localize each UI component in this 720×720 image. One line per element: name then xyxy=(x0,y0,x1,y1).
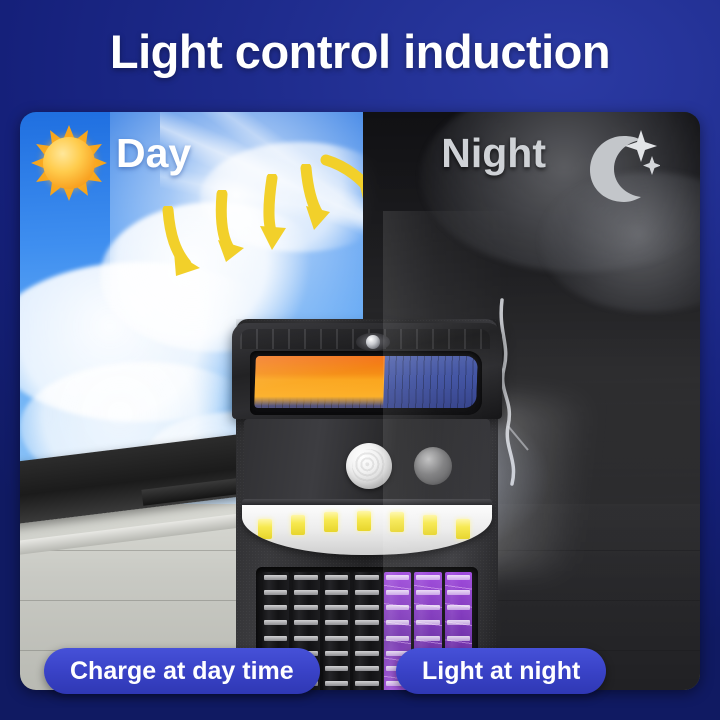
day-label: Day xyxy=(116,130,191,177)
grille-slat xyxy=(264,605,287,610)
grille-slat xyxy=(355,590,378,595)
led-chip xyxy=(423,515,437,535)
grille-slat xyxy=(294,575,317,580)
grille-slat xyxy=(355,636,378,641)
star-sparkle-icon xyxy=(643,156,660,175)
grille-slat xyxy=(355,620,378,625)
grille-slat xyxy=(325,605,348,610)
led-chip xyxy=(324,512,338,532)
solar-panel-sheen xyxy=(254,356,478,408)
grille-slat xyxy=(294,620,317,625)
grille-slat xyxy=(294,636,317,641)
grille-slat xyxy=(264,590,287,595)
page-title: Light control induction xyxy=(0,24,720,80)
grille-slat xyxy=(325,575,348,580)
grille-slat xyxy=(264,636,287,641)
charge-at-day-time-pill[interactable]: Charge at day time xyxy=(44,648,320,694)
led-chip xyxy=(258,519,272,539)
grille-slat xyxy=(355,651,378,656)
grille-slat xyxy=(294,605,317,610)
grille-slat xyxy=(325,620,348,625)
grille-column xyxy=(323,572,350,690)
grille-slat xyxy=(264,620,287,625)
led-chip xyxy=(357,511,371,531)
grille-slat xyxy=(325,651,348,656)
led-chip xyxy=(390,512,404,532)
light-at-night-pill[interactable]: Light at night xyxy=(396,648,606,694)
moon-icon xyxy=(568,126,660,204)
grille-slat xyxy=(294,590,317,595)
grille-slat xyxy=(264,575,287,580)
marketing-image: Light control induction xyxy=(0,0,720,720)
grille-slat xyxy=(325,590,348,595)
grille-slat xyxy=(325,666,348,671)
solar-motion-sensor-wall-light[interactable] xyxy=(222,211,512,690)
grille-slat xyxy=(355,605,378,610)
night-label: Night xyxy=(441,130,546,177)
ambient-light-sensor-dome xyxy=(414,447,452,485)
product-photo-panel: Day xyxy=(20,112,700,690)
led-chip xyxy=(456,519,470,539)
sun-icon xyxy=(30,124,108,202)
screw-pin-icon xyxy=(366,335,380,349)
pir-motion-sensor-dome xyxy=(346,443,392,489)
grille-column xyxy=(353,572,380,690)
grille-slat xyxy=(325,681,348,686)
grille-slat xyxy=(355,681,378,686)
grille-slat xyxy=(355,575,378,580)
led-chip xyxy=(291,515,305,535)
grille-slat xyxy=(325,636,348,641)
grille-slat xyxy=(355,666,378,671)
